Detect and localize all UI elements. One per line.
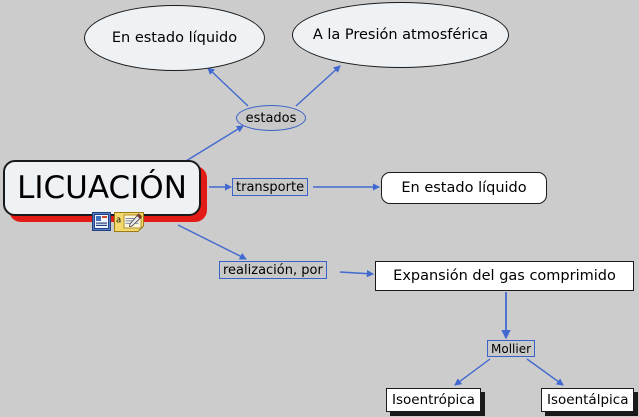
node-en-estado-liquido-right[interactable]: En estado líquido <box>381 172 547 204</box>
link-label-estados[interactable]: estados <box>236 105 306 131</box>
node-expansion-del-gas-comprimido[interactable]: Expansión del gas comprimido <box>375 261 634 291</box>
node-label: Isoentrópica <box>392 392 475 408</box>
link-label-mollier[interactable]: Mollier <box>487 340 535 357</box>
link-label-text: estados <box>246 111 297 126</box>
edge-estados-presion <box>296 66 340 106</box>
node-label: Isoentálpica <box>547 392 628 408</box>
node-label: A la Presión atmosférica <box>313 27 488 43</box>
edge-realizacion-expansion <box>340 272 373 274</box>
document-note-icon[interactable] <box>92 212 111 235</box>
root-node-label: LICUACIÓN <box>17 170 187 206</box>
link-label-text: transporte <box>236 180 304 195</box>
edge-mollier-isoentalpica <box>527 359 563 385</box>
edge-root-realizacion <box>178 225 246 259</box>
node-en-estado-liquido-top[interactable]: En estado líquido <box>84 5 265 71</box>
node-isoentropica[interactable]: Isoentrópica <box>386 388 481 412</box>
mindmap-canvas: LICUACIÓN a <box>0 0 639 417</box>
link-label-realizacion-por[interactable]: realización, por <box>219 261 327 279</box>
edge-root-estados <box>186 126 243 161</box>
yellow-text-note-icon[interactable]: a <box>114 212 144 236</box>
node-isoentalpica[interactable]: Isoentálpica <box>541 388 634 412</box>
svg-text:a: a <box>116 216 121 226</box>
node-label: En estado líquido <box>112 30 237 46</box>
link-label-text: Mollier <box>491 342 531 356</box>
root-node-licuacion[interactable]: LICUACIÓN <box>3 160 201 216</box>
node-label: Expansión del gas comprimido <box>393 268 616 284</box>
root-node-icon-strip: a <box>92 212 144 236</box>
edge-estados-liquido <box>208 68 248 106</box>
edge-mollier-isoentropica <box>455 359 490 385</box>
link-label-transporte[interactable]: transporte <box>232 178 308 196</box>
link-label-text: realización, por <box>223 263 323 278</box>
node-label: En estado líquido <box>401 180 526 196</box>
node-a-la-presion-atmosferica[interactable]: A la Presión atmosférica <box>292 2 509 68</box>
